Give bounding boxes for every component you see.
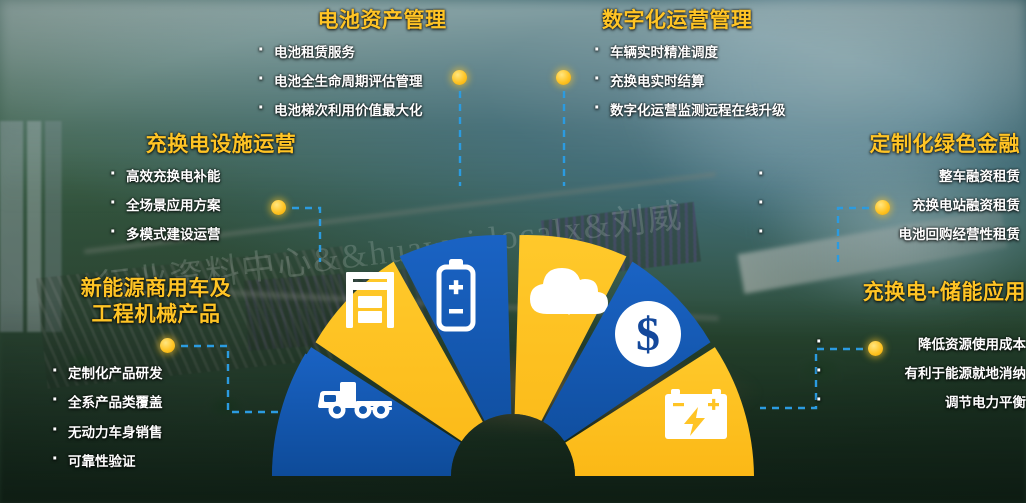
callout-title: 充换电+储能应用 — [830, 280, 1026, 306]
list-item: 电池租赁服务 — [252, 44, 512, 62]
callout-list: 电池租赁服务 电池全生命周期评估管理 电池梯次利用价值最大化 — [252, 44, 512, 121]
callout-list: 定制化产品研发 全系产品类覆盖 无动力车身销售 可靠性验证 — [36, 365, 276, 471]
list-item: 定制化产品研发 — [46, 365, 276, 383]
callout-nev-products: 新能源商用车及 工程机械产品 定制化产品研发 全系产品类覆盖 无动力车身销售 可… — [36, 276, 276, 482]
callout-title: 定制化绿色金融 — [772, 132, 1020, 158]
list-item: 车辆实时精准调度 — [588, 44, 888, 62]
list-item: 无动力车身销售 — [46, 424, 276, 442]
dollar-coin-icon: $ — [615, 301, 681, 367]
callout-list: 车辆实时精准调度 充换电实时结算 数字化运营监测远程在线升级 — [588, 44, 888, 121]
list-item: 电池回购经营性租赁 — [772, 226, 1020, 244]
list-item: 数字化运营监测远程在线升级 — [588, 102, 888, 120]
list-item: 有利于能源就地消纳 — [830, 365, 1026, 383]
list-item: 充换电实时结算 — [588, 73, 888, 91]
svg-text:$: $ — [636, 308, 660, 361]
callout-title: 电池资产管理 — [252, 8, 512, 34]
callout-title-line1: 新能源商用车及 — [81, 277, 232, 300]
list-item: 电池全生命周期评估管理 — [252, 73, 512, 91]
callout-list: 降低资源使用成本 有利于能源就地消纳 调节电力平衡 — [830, 336, 1026, 413]
callout-list: 高效充换电补能 全场景应用方案 多模式建设运营 — [96, 168, 346, 245]
energy-storage-battery-icon — [665, 389, 727, 439]
list-item: 高效充换电补能 — [104, 168, 346, 186]
list-item: 充换电站融资租赁 — [772, 197, 1020, 215]
list-item: 多模式建设运营 — [104, 226, 346, 244]
callout-title: 数字化运营管理 — [588, 8, 888, 34]
connector-node-digital-ops — [556, 70, 571, 85]
callout-digital-operations: 数字化运营管理 车辆实时精准调度 充换电实时结算 数字化运营监测远程在线升级 — [588, 8, 888, 131]
list-item: 电池梯次利用价值最大化 — [252, 102, 512, 120]
callout-swap-facility: 充换电设施运营 高效充换电补能 全场景应用方案 多模式建设运营 — [96, 132, 346, 255]
list-item: 调节电力平衡 — [830, 394, 1026, 412]
callout-battery-asset: 电池资产管理 电池租赁服务 电池全生命周期评估管理 电池梯次利用价值最大化 — [252, 8, 512, 131]
list-item: 降低资源使用成本 — [830, 336, 1026, 354]
callout-list: 整车融资租赁 充换电站融资租赁 电池回购经营性租赁 — [772, 168, 1020, 245]
infographic-canvas: 行业资料中心&&huawei.localx&刘威 — [0, 0, 1026, 503]
list-item: 全场景应用方案 — [104, 197, 346, 215]
callout-green-finance: 定制化绿色金融 整车融资租赁 充换电站融资租赁 电池回购经营性租赁 — [772, 132, 1020, 255]
list-item: 全系产品类覆盖 — [46, 394, 276, 412]
callout-title-line2: 工程机械产品 — [92, 303, 221, 326]
list-item: 可靠性验证 — [46, 453, 276, 471]
callout-title: 充换电设施运营 — [96, 132, 346, 158]
fan-inner-hub-cutout — [451, 414, 575, 476]
list-item: 整车融资租赁 — [772, 168, 1020, 186]
callout-title: 新能源商用车及 工程机械产品 — [36, 276, 276, 327]
callout-storage-application: 充换电+储能应用 降低资源使用成本 有利于能源就地消纳 调节电力平衡 — [830, 280, 1026, 423]
